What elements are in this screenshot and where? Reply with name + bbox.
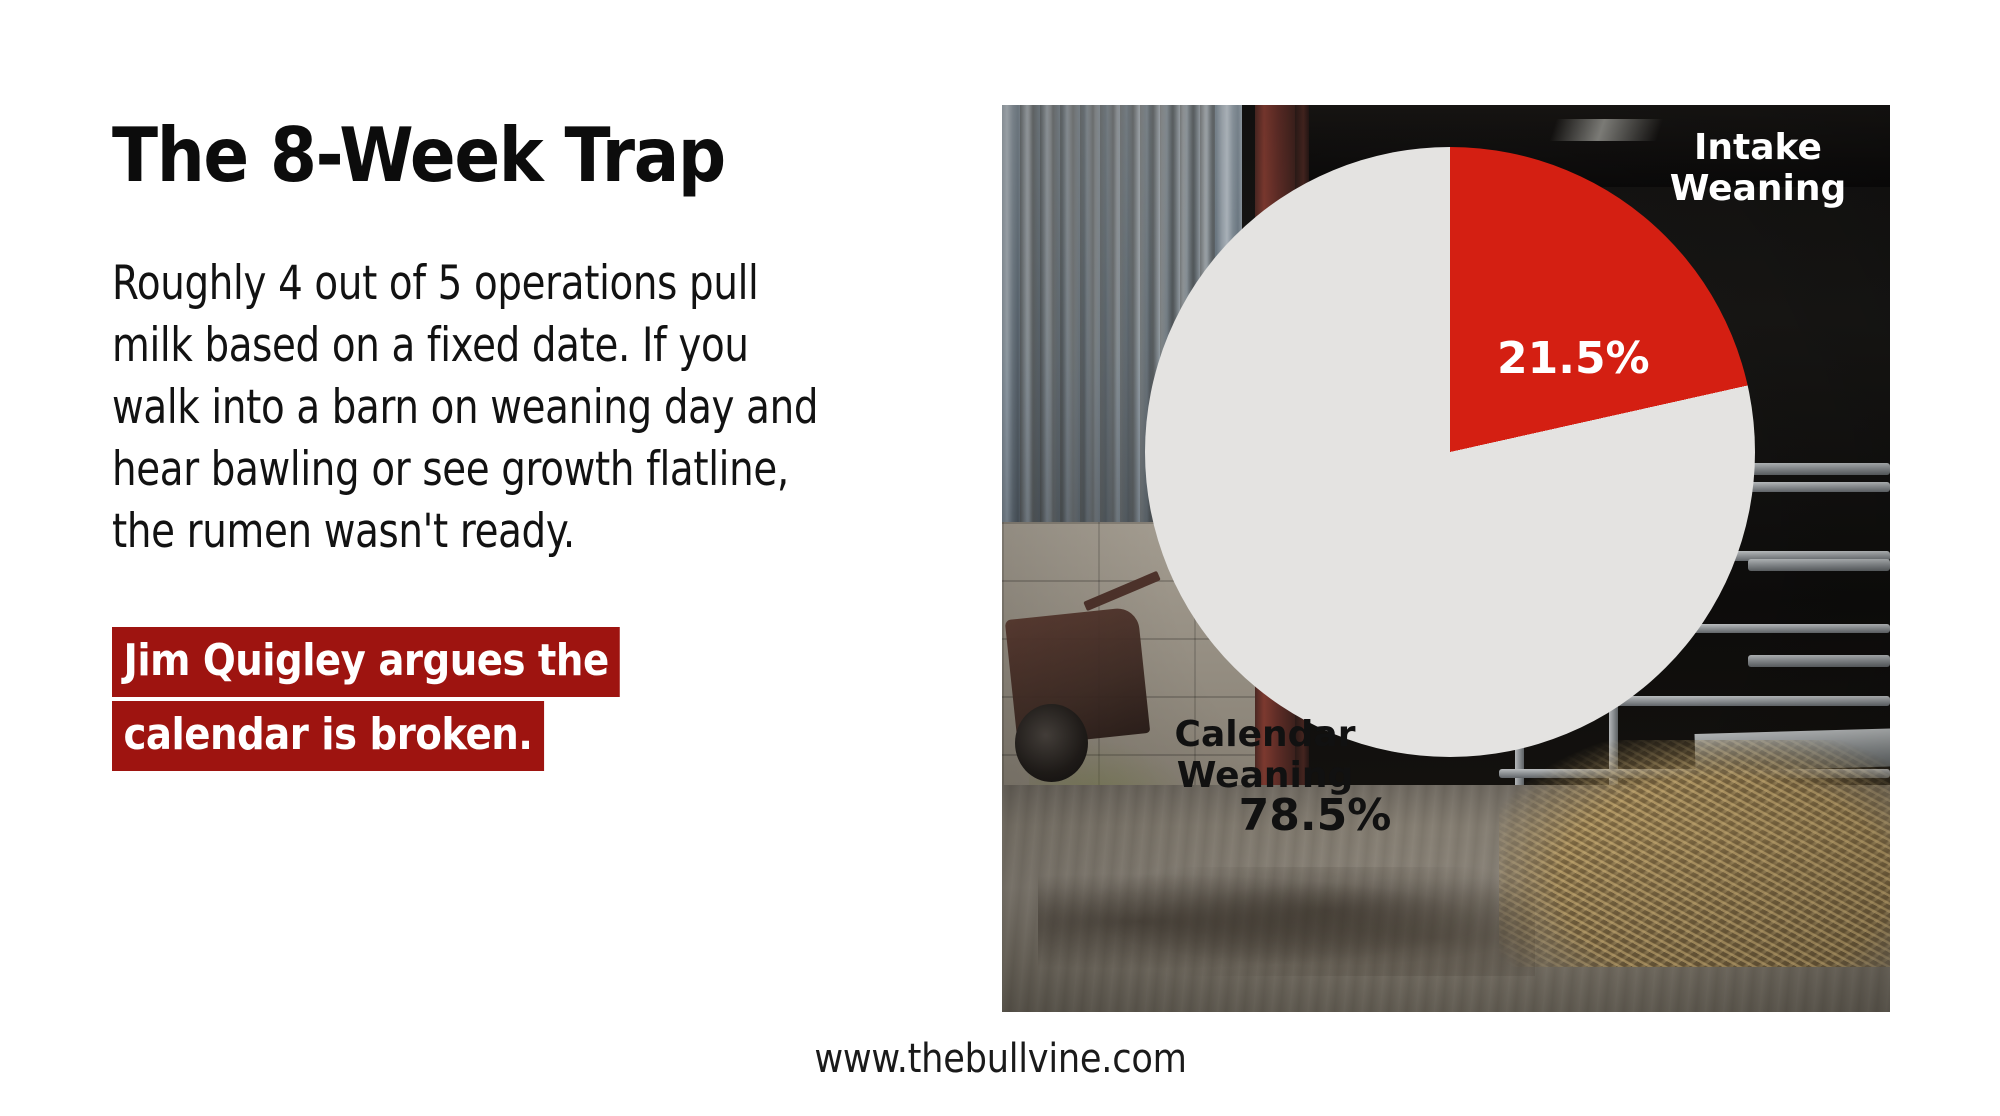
page-title: The 8-Week Trap [112,118,850,193]
slice-value-calendar-weaning: 78.5% [1205,790,1425,841]
callout-line-1: Jim Quigley argues the [112,627,620,697]
quote-callout: Jim Quigley argues the calendar is broke… [112,627,932,770]
footer-url[interactable]: www.thebullvine.com [0,1036,2000,1082]
body-paragraph: Roughly 4 out of 5 operations pull milk … [112,253,838,563]
footer-url-text: www.thebullvine.com [814,1036,1186,1082]
text-column: The 8-Week Trap Roughly 4 out of 5 opera… [112,118,932,771]
barn-photo-panel: Source: USDA NAHMS [1002,105,1890,1012]
donut-chart [1145,147,1755,757]
slice-value-intake-weaning: 21.5% [1497,333,1650,384]
callout-line-2: calendar is broken. [112,701,544,771]
slice-label-calendar-weaning: Calendar Weaning [1155,715,1375,796]
slice-label-intake-weaning: Intake Weaning [1638,128,1878,209]
